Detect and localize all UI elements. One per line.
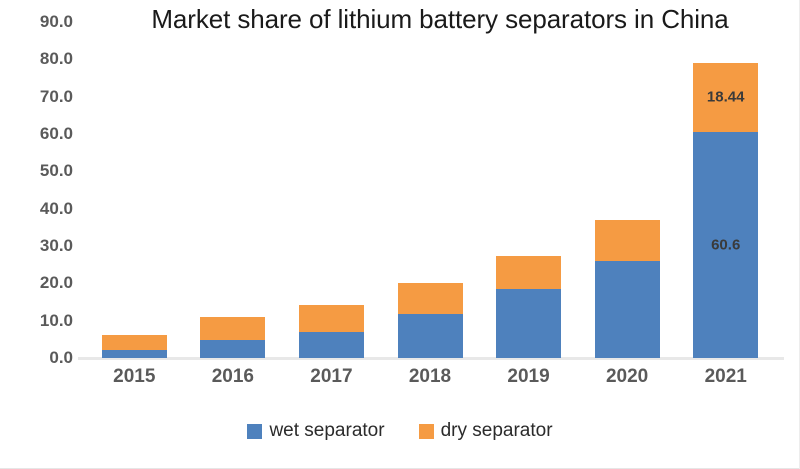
bar-segment-dry-separator[interactable] bbox=[200, 317, 265, 340]
legend-swatch-square-icon bbox=[247, 424, 262, 439]
bar-segment-dry-separator[interactable] bbox=[398, 283, 463, 314]
y-axis-tick-label: 60.0 bbox=[3, 124, 73, 144]
plot-area: 60.618.44 bbox=[85, 22, 775, 358]
y-axis-tick-label: 0.0 bbox=[3, 348, 73, 368]
bar-segment-dry-separator[interactable] bbox=[102, 335, 167, 350]
bar-segment-dry-separator[interactable] bbox=[299, 305, 364, 332]
x-axis-tick-label: 2018 bbox=[381, 366, 480, 388]
bar-group[interactable] bbox=[496, 256, 561, 358]
bar-group[interactable] bbox=[299, 305, 364, 358]
x-axis-tick-label: 2015 bbox=[85, 366, 184, 388]
chart-container: Market share of lithium battery separato… bbox=[0, 0, 800, 469]
x-axis-tick-label: 2021 bbox=[676, 366, 775, 388]
bar-segment-dry-separator[interactable]: 18.44 bbox=[693, 63, 758, 132]
bar-segment-wet-separator[interactable]: 60.6 bbox=[693, 132, 758, 358]
bar-segment-wet-separator[interactable] bbox=[102, 350, 167, 358]
bar-group[interactable] bbox=[200, 317, 265, 358]
chart-legend: wet separatordry separator bbox=[0, 420, 800, 442]
bar-group[interactable] bbox=[398, 283, 463, 358]
bar-value-label: 60.6 bbox=[693, 236, 758, 253]
bar-group[interactable] bbox=[595, 220, 660, 359]
y-axis-tick-label: 80.0 bbox=[3, 49, 73, 69]
bar-segment-wet-separator[interactable] bbox=[398, 314, 463, 358]
x-axis-tick-label: 2019 bbox=[479, 366, 578, 388]
y-axis: 90.080.070.060.050.040.030.020.010.00.0 bbox=[0, 0, 85, 380]
y-axis-tick-label: 40.0 bbox=[3, 199, 73, 219]
x-axis-tick-label: 2020 bbox=[578, 366, 677, 388]
legend-swatch-square-icon bbox=[419, 424, 434, 439]
bar-value-label: 18.44 bbox=[693, 89, 758, 106]
x-axis: 2015201620172018201920202021 bbox=[85, 366, 775, 396]
bar-group[interactable] bbox=[102, 335, 167, 358]
legend-label: wet separator bbox=[269, 420, 384, 442]
y-axis-tick-label: 50.0 bbox=[3, 161, 73, 181]
legend-item[interactable]: dry separator bbox=[419, 420, 553, 442]
bar-segment-wet-separator[interactable] bbox=[200, 340, 265, 358]
bar-segment-wet-separator[interactable] bbox=[496, 289, 561, 358]
bar-group[interactable]: 60.618.44 bbox=[693, 63, 758, 358]
y-axis-tick-label: 20.0 bbox=[3, 273, 73, 293]
bar-segment-dry-separator[interactable] bbox=[496, 256, 561, 289]
bar-segment-wet-separator[interactable] bbox=[299, 332, 364, 358]
y-axis-tick-label: 90.0 bbox=[3, 12, 73, 32]
y-axis-tick-label: 30.0 bbox=[3, 236, 73, 256]
legend-label: dry separator bbox=[441, 420, 553, 442]
y-axis-tick-label: 70.0 bbox=[3, 87, 73, 107]
x-axis-tick-label: 2016 bbox=[184, 366, 283, 388]
y-axis-tick-label: 10.0 bbox=[3, 311, 73, 331]
bar-segment-dry-separator[interactable] bbox=[595, 220, 660, 261]
legend-item[interactable]: wet separator bbox=[247, 420, 384, 442]
x-axis-tick-label: 2017 bbox=[282, 366, 381, 388]
bar-segment-wet-separator[interactable] bbox=[595, 261, 660, 358]
